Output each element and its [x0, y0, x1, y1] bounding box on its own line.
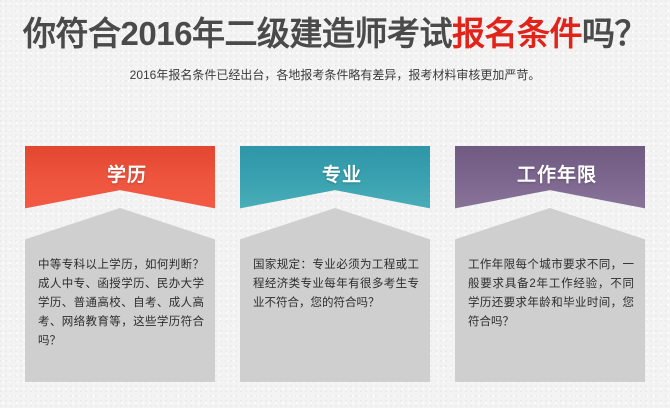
page-title-part1: 你符合2016年二级建造师考试 — [23, 15, 452, 52]
condition-card-education[interactable]: 学历 中等专科以上学历，如何判断？成人中专、函授学历、民办大学学历、普通高校、自… — [25, 146, 215, 382]
page-subtitle: 2016年报名条件已经出台，各地报考条件略有差异，报考材料审核更加严苛。 — [0, 66, 670, 84]
card-body-major: 国家规定：专业必须为工程或工程经济类专业每年有很多考生专业不符合，您的符合吗？ — [240, 208, 430, 382]
card-body-work-experience: 工作年限每个城市要求不同，一般要求具备2年工作经验，不同学历还要求年龄和毕业时间… — [455, 208, 645, 382]
card-title-major: 专业 — [240, 160, 430, 187]
card-title-work-experience: 工作年限 — [455, 160, 645, 187]
card-text-education: 中等专科以上学历，如何判断？成人中专、函授学历、民办大学学历、普通高校、自考、成… — [38, 256, 204, 351]
page-title: 你符合2016年二级建造师考试报名条件吗？ — [0, 14, 670, 54]
promo-page: 你符合2016年二级建造师考试报名条件吗？ 2016年报名条件已经出台，各地报考… — [0, 0, 670, 408]
condition-card-list: 学历 中等专科以上学历，如何判断？成人中专、函授学历、民办大学学历、普通高校、自… — [25, 146, 645, 382]
page-title-accent: 报名条件 — [452, 15, 582, 52]
card-text-major: 国家规定：专业必须为工程或工程经济类专业每年有很多考生专业不符合，您的符合吗？ — [253, 256, 419, 313]
card-text-work-experience: 工作年限每个城市要求不同，一般要求具备2年工作经验，不同学历还要求年龄和毕业时间… — [468, 256, 634, 332]
card-title-education: 学历 — [25, 160, 215, 187]
condition-card-work-experience[interactable]: 工作年限 工作年限每个城市要求不同，一般要求具备2年工作经验，不同学历还要求年龄… — [455, 146, 645, 382]
card-body-education: 中等专科以上学历，如何判断？成人中专、函授学历、民办大学学历、普通高校、自考、成… — [25, 208, 215, 382]
page-title-part2: 吗？ — [582, 15, 647, 52]
condition-card-major[interactable]: 专业 国家规定：专业必须为工程或工程经济类专业每年有很多考生专业不符合，您的符合… — [240, 146, 430, 382]
